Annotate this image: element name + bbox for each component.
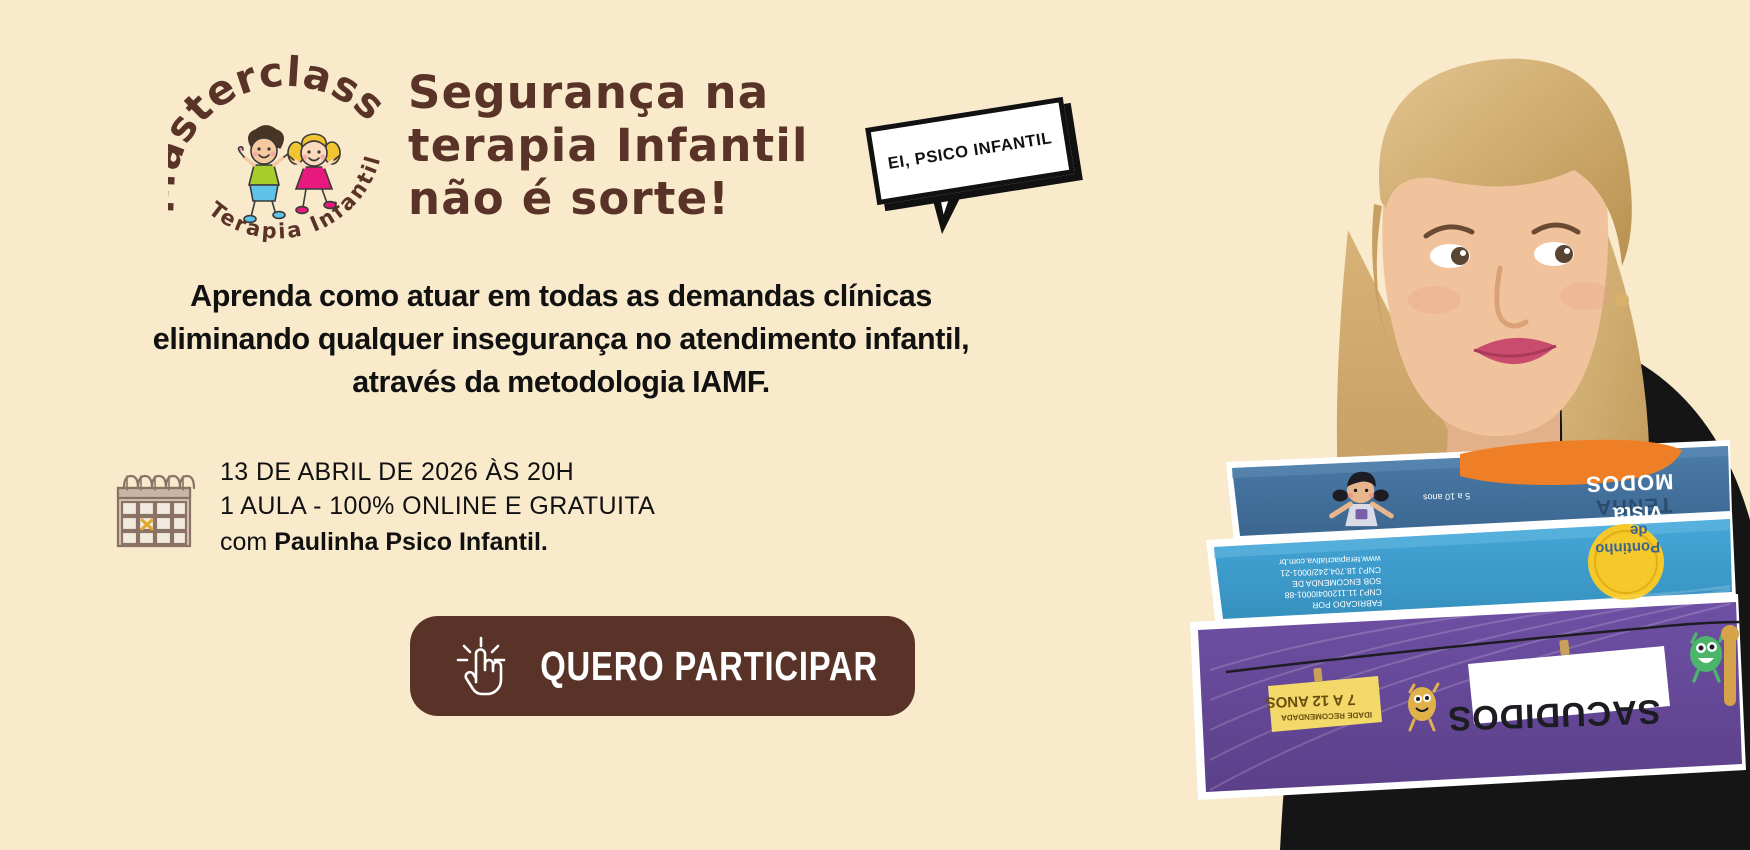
svg-text:Pontinho: Pontinho xyxy=(1595,538,1661,557)
event-date: 13 DE ABRIL DE 2026 ÀS 20H xyxy=(220,455,655,489)
cta-label: QUERO PARTICIPAR xyxy=(540,643,878,690)
masterclass-banner: Masterclass Terapia Infantil xyxy=(0,0,1750,850)
click-hand-icon xyxy=(454,634,508,698)
event-host-prefix: com xyxy=(220,528,274,556)
svg-text:SACUDIDOS: SACUDIDOS xyxy=(1447,692,1661,737)
event-info-block: 13 DE ABRIL DE 2026 ÀS 20H 1 AULA - 100%… xyxy=(108,455,728,561)
calendar-icon xyxy=(108,466,204,558)
masterclass-logo: Masterclass Terapia Infantil xyxy=(168,48,400,263)
subhead-line-1: Aprenda como atuar em todas as demandas … xyxy=(56,275,1066,318)
event-host-name: Paulinha Psico Infantil. xyxy=(274,528,548,556)
quero-participar-button[interactable]: QUERO PARTICIPAR xyxy=(410,616,915,716)
subheadline: Aprenda como atuar em todas as demandas … xyxy=(56,275,1066,404)
instructor-photo: TENHA MODOS 5 a 10 anos xyxy=(1030,0,1750,850)
two-children-icon xyxy=(228,120,358,230)
event-format: 1 AULA - 100% ONLINE E GRATUITA xyxy=(220,489,655,523)
event-info-lines: 13 DE ABRIL DE 2026 ÀS 20H 1 AULA - 100%… xyxy=(220,455,655,561)
speech-bubble-label: EI, PSICO INFANTIL xyxy=(887,129,1054,174)
svg-text:Vista: Vista xyxy=(1612,501,1663,526)
subhead-line-3: através da metodologia IAMF. xyxy=(56,361,1066,404)
svg-text:MODOS: MODOS xyxy=(1585,469,1674,497)
svg-text:7 A 12 ANOS: 7 A 12 ANOS xyxy=(1265,691,1356,711)
svg-text:5 a 10 anos: 5 a 10 anos xyxy=(1422,491,1470,503)
subhead-line-2: eliminando qualquer insegurança no atend… xyxy=(56,318,1066,361)
event-host: com Paulinha Psico Infantil. xyxy=(220,523,655,561)
